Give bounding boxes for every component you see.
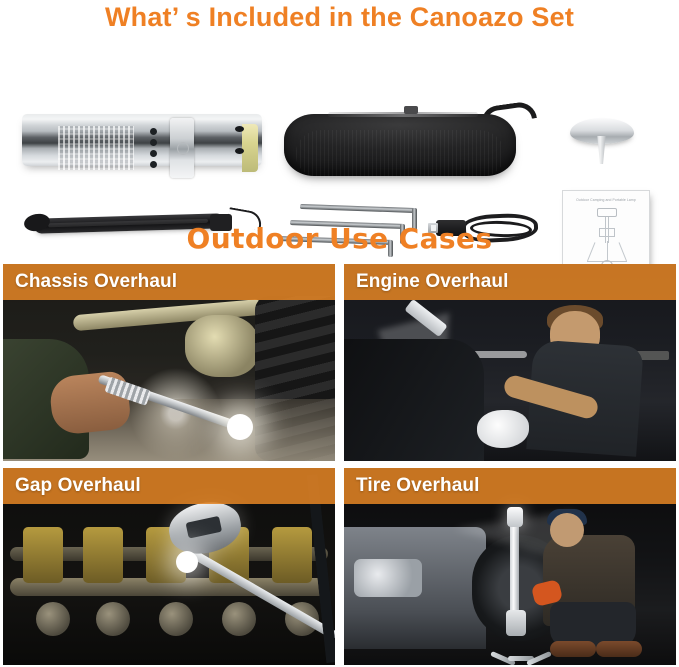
use-case-grid: Chassis Overhaul Engine Overhaul xyxy=(3,264,676,665)
work-light-tip-dot-top xyxy=(235,126,244,132)
work-light-item xyxy=(22,106,262,174)
user-manual-header-text: Outdoor Camping and Portable Lamp xyxy=(572,198,640,202)
use-case-panel-tire: Tire Overhaul xyxy=(344,468,676,665)
work-light-body xyxy=(22,114,262,166)
chassis-label-bar: Chassis Overhaul xyxy=(3,264,335,300)
tire-label-bar: Tire Overhaul xyxy=(344,468,676,504)
carry-case-item xyxy=(284,104,516,180)
carry-case-texture xyxy=(296,130,504,178)
carry-case-body xyxy=(284,114,516,176)
use-case-panel-engine: Engine Overhaul xyxy=(344,264,676,461)
gap-label-text: Gap Overhaul xyxy=(3,475,141,497)
carry-case-zipper-pull xyxy=(404,106,418,114)
engine-label-bar: Engine Overhaul xyxy=(344,264,676,300)
page-title-included: What’ s Included in the Canoazo Set xyxy=(0,2,679,33)
work-light-indicator-dots xyxy=(150,128,160,168)
work-light-tip-dot-bottom xyxy=(235,148,244,154)
hanging-hook-item xyxy=(566,110,638,172)
use-case-panel-chassis: Chassis Overhaul xyxy=(3,264,335,461)
gap-label-bar: Gap Overhaul xyxy=(3,468,335,504)
work-light-tip xyxy=(242,124,258,172)
chassis-label-text: Chassis Overhaul xyxy=(3,271,177,293)
work-light-grip-texture xyxy=(58,126,134,170)
carry-case-zipper xyxy=(328,112,478,117)
use-case-panel-gap: Gap Overhaul xyxy=(3,468,335,665)
included-items-area: Outdoor Camping and Portable Lamp User M… xyxy=(0,48,679,220)
tire-label-text: Tire Overhaul xyxy=(344,475,479,497)
engine-label-text: Engine Overhaul xyxy=(344,271,508,293)
infographic-page: What’ s Included in the Canoazo Set xyxy=(0,0,679,667)
page-title-use-cases: Outdoor Use Cases xyxy=(0,222,679,255)
work-light-collar xyxy=(170,118,194,178)
